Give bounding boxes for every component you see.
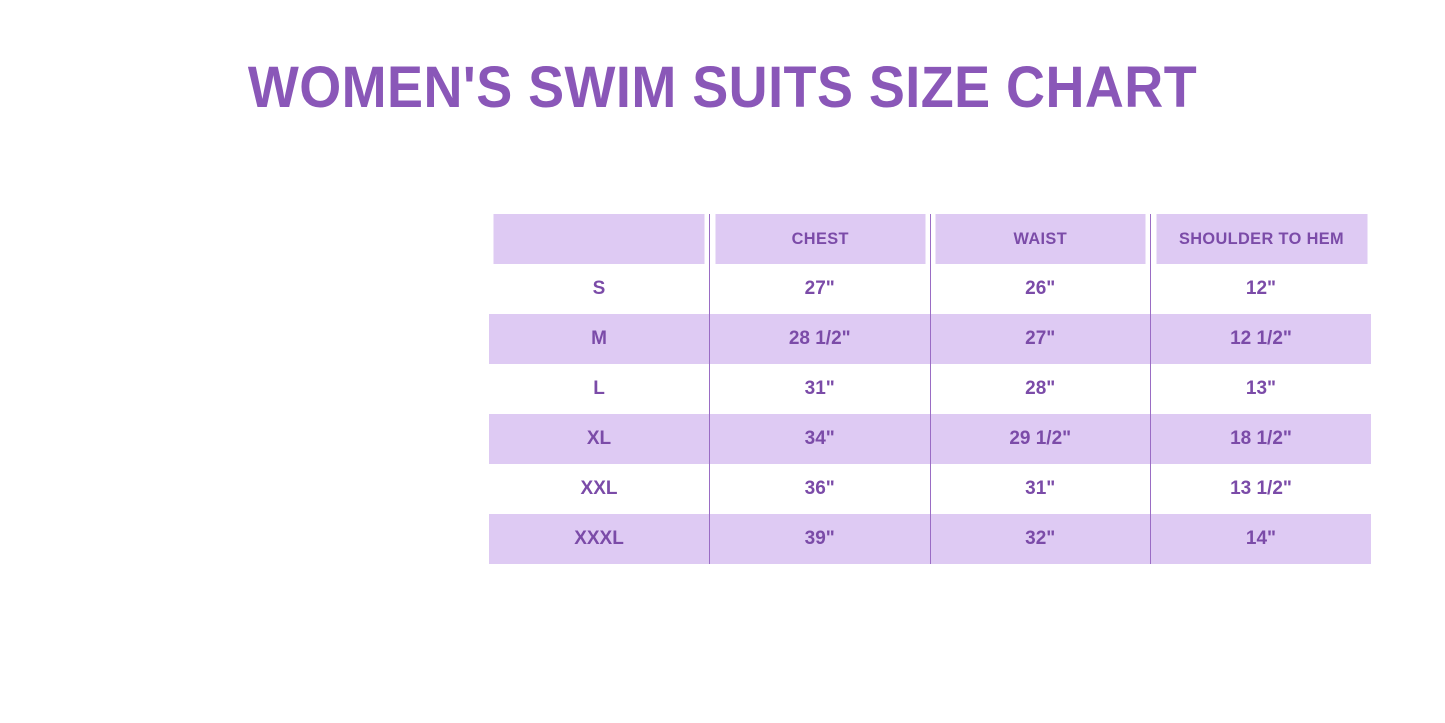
column-header-shoulder-to-hem: SHOULDER TO HEM — [1155, 214, 1367, 264]
table-row: XXL 36" 31" 13 1/2" — [489, 464, 1371, 514]
cell-shoulder-to-hem: 18 1/2" — [1151, 414, 1372, 464]
cell-chest: 31" — [710, 364, 931, 414]
cell-shoulder-to-hem: 12 1/2" — [1151, 314, 1372, 364]
cell-size: XL — [489, 414, 710, 464]
cell-waist: 32" — [930, 514, 1151, 564]
table-row: M 28 1/2" 27" 12 1/2" — [489, 314, 1371, 364]
column-header-waist: WAIST — [934, 214, 1146, 264]
cell-shoulder-to-hem: 12" — [1151, 264, 1372, 314]
table-row: XXXL 39" 32" 14" — [489, 514, 1371, 564]
cell-chest: 36" — [710, 464, 931, 514]
cell-chest: 28 1/2" — [710, 314, 931, 364]
cell-waist: 31" — [930, 464, 1151, 514]
column-header-chest: CHEST — [714, 214, 926, 264]
size-chart-page: WOMEN'S SWIM SUITS SIZE CHART CHEST WAIS… — [0, 0, 1445, 723]
table-header-row: CHEST WAIST SHOULDER TO HEM — [489, 214, 1371, 264]
cell-chest: 27" — [710, 264, 931, 314]
size-chart-table: CHEST WAIST SHOULDER TO HEM S 27" 26" 12… — [489, 214, 1371, 564]
cell-size: XXXL — [489, 514, 710, 564]
cell-chest: 39" — [710, 514, 931, 564]
page-title: WOMEN'S SWIM SUITS SIZE CHART — [51, 55, 1395, 121]
cell-size: M — [489, 314, 710, 364]
cell-size: XXL — [489, 464, 710, 514]
cell-chest: 34" — [710, 414, 931, 464]
cell-waist: 28" — [930, 364, 1151, 414]
cell-shoulder-to-hem: 13 1/2" — [1151, 464, 1372, 514]
table-row: L 31" 28" 13" — [489, 364, 1371, 414]
table-row: XL 34" 29 1/2" 18 1/2" — [489, 414, 1371, 464]
table-row: S 27" 26" 12" — [489, 264, 1371, 314]
cell-waist: 29 1/2" — [930, 414, 1151, 464]
size-table-container: CHEST WAIST SHOULDER TO HEM S 27" 26" 12… — [489, 214, 1371, 564]
cell-waist: 27" — [930, 314, 1151, 364]
column-header-size — [493, 214, 705, 264]
cell-size: L — [489, 364, 710, 414]
cell-shoulder-to-hem: 13" — [1151, 364, 1372, 414]
cell-shoulder-to-hem: 14" — [1151, 514, 1372, 564]
cell-size: S — [489, 264, 710, 314]
cell-waist: 26" — [930, 264, 1151, 314]
